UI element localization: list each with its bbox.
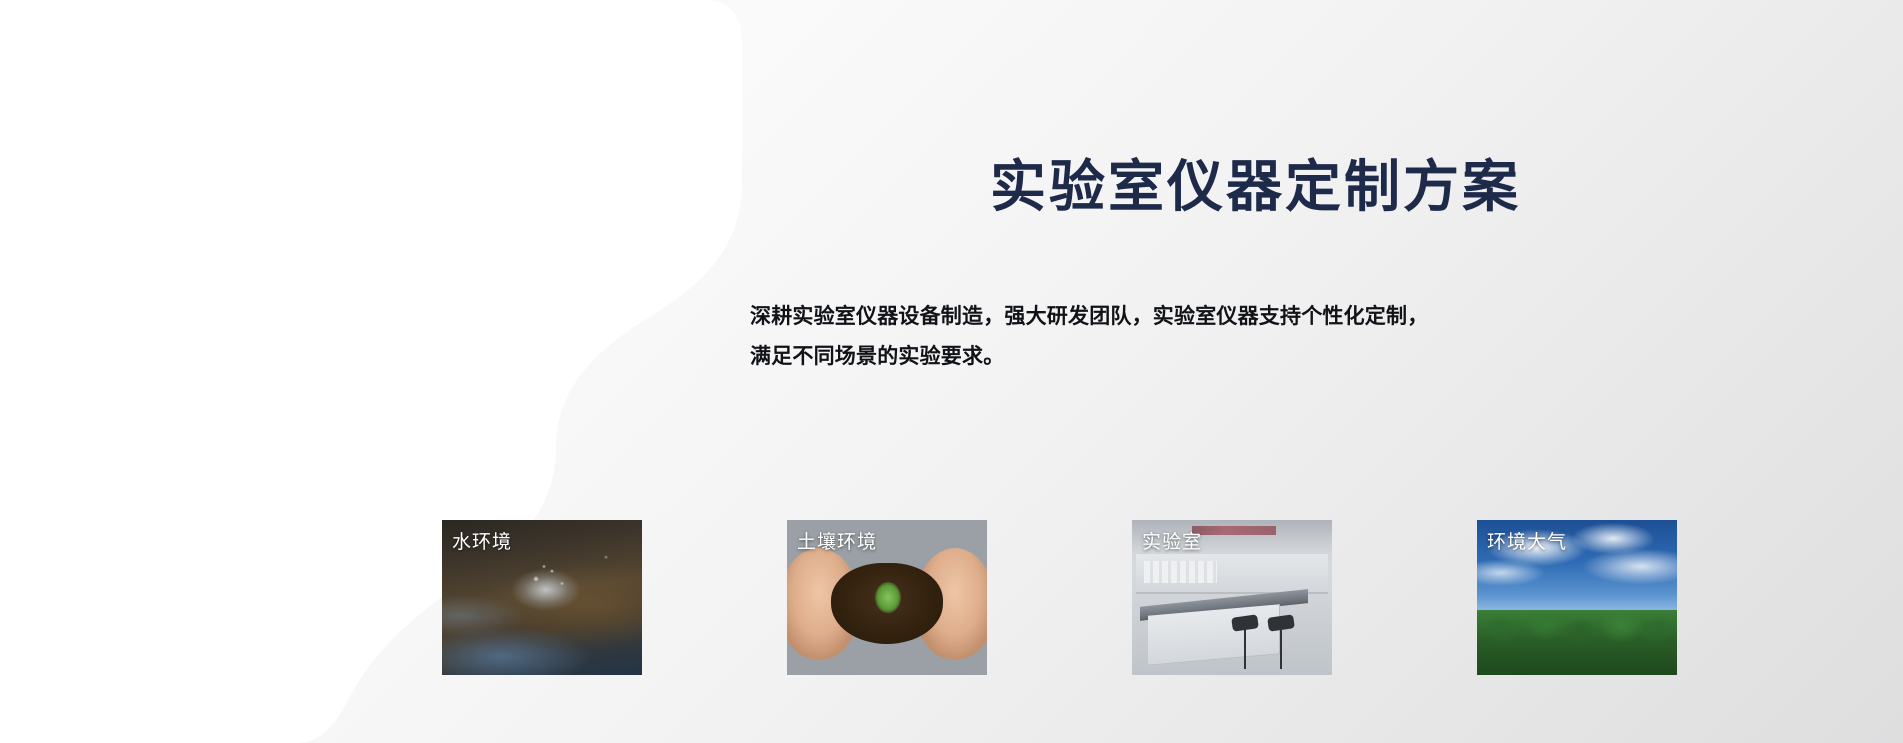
category-card-laboratory[interactable]: 实验室 [1132,520,1332,675]
category-card-soil[interactable]: 土壤环境 [787,520,987,675]
page-title: 实验室仪器定制方案 [990,157,1521,217]
category-card-label: 土壤环境 [797,527,877,554]
category-card-water[interactable]: 水环境 [442,520,642,675]
subtitle-line-1: 深耕实验室仪器设备制造，强大研发团队，实验室仪器支持个性化定制， [750,297,1740,337]
lab-cabinet-shape [1148,604,1280,665]
hero-banner: 实验室仪器定制方案 深耕实验室仪器设备制造，强大研发团队，实验室仪器支持个性化定… [0,0,1903,743]
decor-circle-large [398,186,512,300]
category-card-label: 环境大气 [1487,527,1567,554]
lab-stool-shape [1232,616,1258,669]
category-card-atmosphere[interactable]: 环境大气 [1477,520,1677,675]
category-card-label: 水环境 [452,527,512,554]
lab-shelf-shape [1136,554,1328,594]
tree-line-shape [1477,610,1677,675]
subtitle-line-2: 满足不同场景的实验要求。 [750,337,1740,377]
lab-stool-shape [1268,616,1294,669]
seedling-shape [875,582,901,613]
category-card-label: 实验室 [1142,527,1202,554]
decor-circle-small [295,557,369,631]
page-subtitle: 深耕实验室仪器设备制造，强大研发团队，实验室仪器支持个性化定制， 满足不同场景的… [750,297,1740,377]
category-card-list: 水环境 土壤环境 实验室 [442,520,1742,700]
